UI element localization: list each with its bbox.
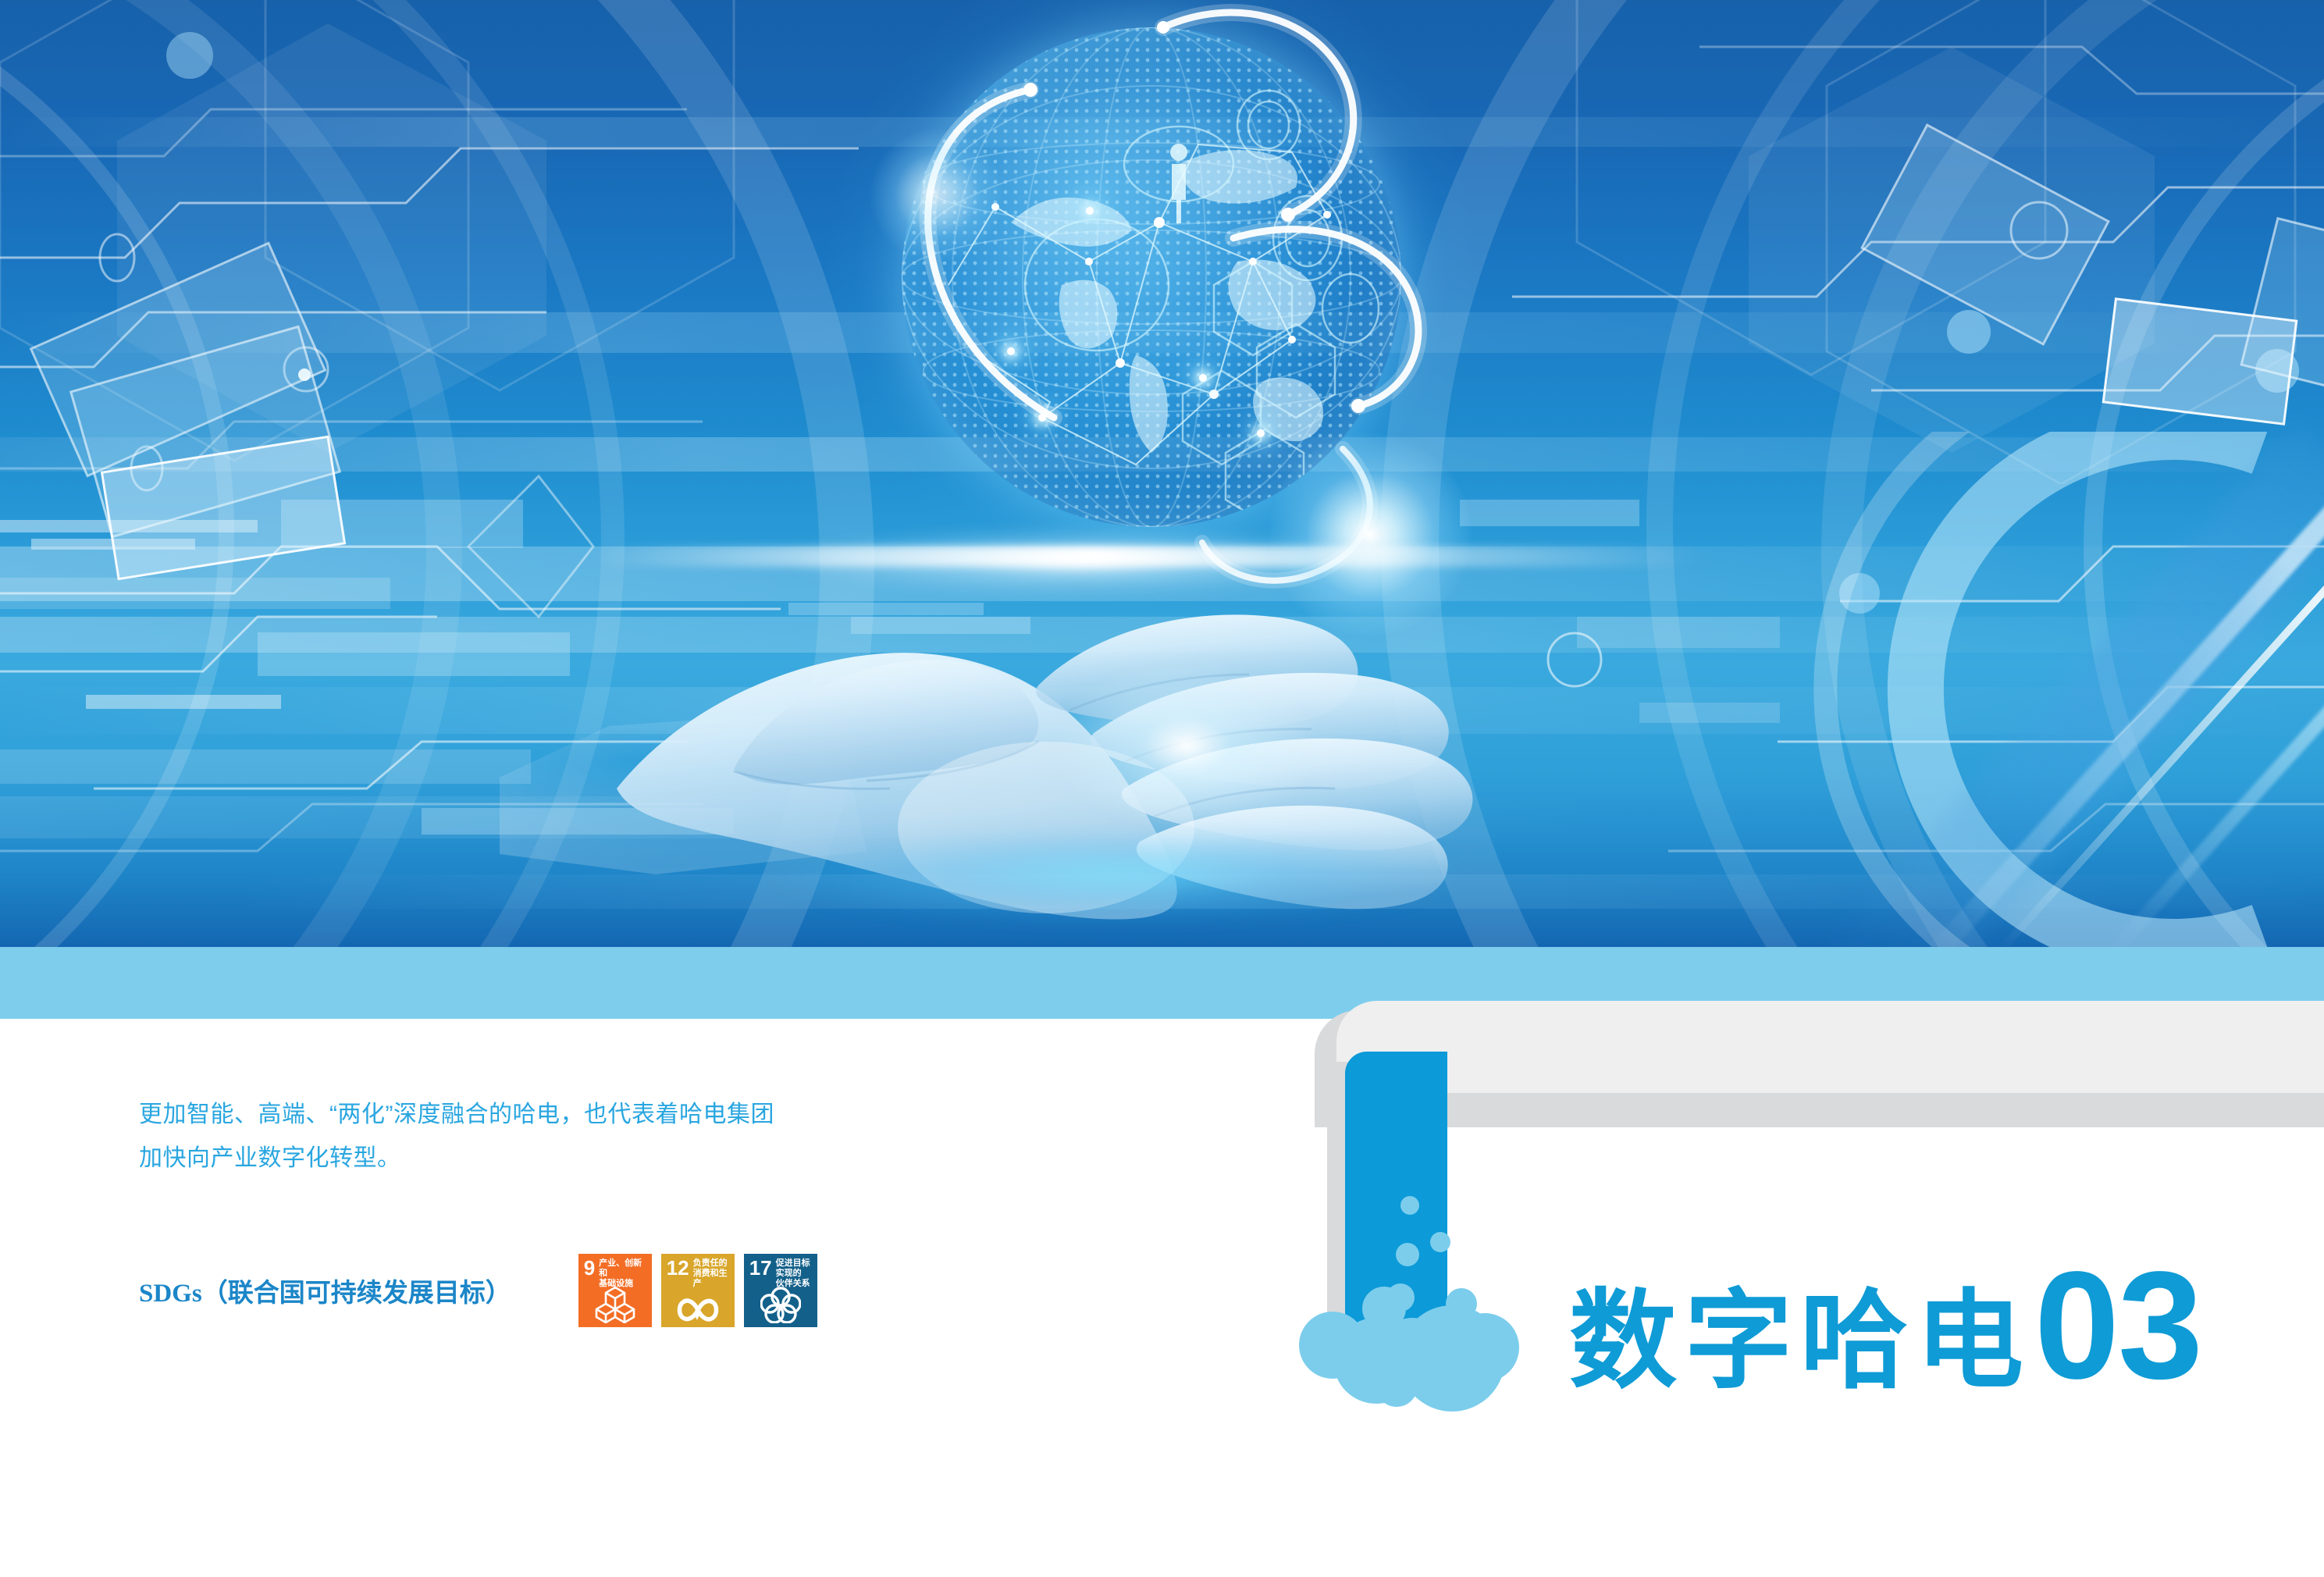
sdg-title: 促进目标实现的 伙伴关系 xyxy=(776,1258,813,1289)
section-number: 03 xyxy=(2034,1249,2201,1402)
decor-ring-c xyxy=(1668,432,2324,947)
sdg-tile-header: 12 负责任的 消费和生产 xyxy=(667,1258,731,1289)
bubble xyxy=(1446,1288,1477,1319)
sdg-title-line-1: 产业、创新和 xyxy=(599,1258,642,1278)
sdg-tile-header: 9 产业、创新和 基础设施 xyxy=(584,1258,648,1289)
bubble xyxy=(1386,1283,1415,1312)
bubble xyxy=(1345,1365,1364,1383)
horizon-line xyxy=(593,546,1702,567)
sdg-number: 12 xyxy=(667,1258,689,1277)
bubble xyxy=(1376,1365,1418,1407)
sdg-label: SDGs（联合国可持续发展目标） xyxy=(139,1272,511,1309)
sdg-tile-12[interactable]: 12 负责任的 消费和生产 xyxy=(661,1254,735,1327)
body-copy: 更加智能、高端、“两化”深度融合的哈电，也代表着哈电集团 加快向产业数字化转型。 xyxy=(139,1093,920,1180)
section-title: 数字哈电 03 xyxy=(1569,1249,2201,1402)
sdg-tile-17[interactable]: 17 促进目标实现的 伙伴关系 xyxy=(744,1254,817,1327)
sdg-number: 9 xyxy=(584,1258,595,1277)
page-root: 更加智能、高端、“两化”深度融合的哈电，也代表着哈电集团 加快向产业数字化转型。… xyxy=(0,0,2324,1577)
body-copy-line-2: 加快向产业数字化转型。 xyxy=(139,1137,920,1180)
sdg-row: SDGs（联合国可持续发展目标） 9 产业、创新和 基础设施 xyxy=(139,1254,827,1327)
bubble xyxy=(1400,1196,1419,1215)
bubble xyxy=(1450,1313,1519,1382)
sdg-title: 负责任的 消费和生产 xyxy=(693,1258,731,1289)
infinity-icon xyxy=(661,1297,735,1323)
sdg-tiles: 9 产业、创新和 基础设施 xyxy=(578,1254,827,1327)
sdg-tile-9[interactable]: 9 产业、创新和 基础设施 xyxy=(578,1254,652,1327)
body-copy-line-1: 更加智能、高端、“两化”深度融合的哈电，也代表着哈电集团 xyxy=(139,1093,920,1137)
sdg-number: 17 xyxy=(749,1258,772,1277)
water-stream-edge xyxy=(1423,1052,1447,1247)
sdg-title-line-2: 消费和生产 xyxy=(693,1269,728,1288)
sdg-title-line-1: 负责任的 xyxy=(693,1258,728,1268)
cubes-icon xyxy=(578,1286,652,1323)
hero-banner xyxy=(0,0,2324,947)
bubble xyxy=(1396,1243,1419,1266)
sdg-tile-header: 17 促进目标实现的 伙伴关系 xyxy=(749,1258,813,1289)
five-rings-icon xyxy=(744,1286,817,1323)
section-title-text: 数字哈电 xyxy=(1569,1287,2031,1395)
open-hand xyxy=(500,593,1717,929)
sdg-title: 产业、创新和 基础设施 xyxy=(599,1258,648,1289)
bubble xyxy=(1430,1232,1450,1252)
sdg-title-line-1: 促进目标实现的 xyxy=(776,1258,810,1278)
bubble xyxy=(1435,1376,1455,1396)
chute-pipe xyxy=(1336,1001,2324,1093)
digital-globe-hologram xyxy=(902,27,1401,527)
